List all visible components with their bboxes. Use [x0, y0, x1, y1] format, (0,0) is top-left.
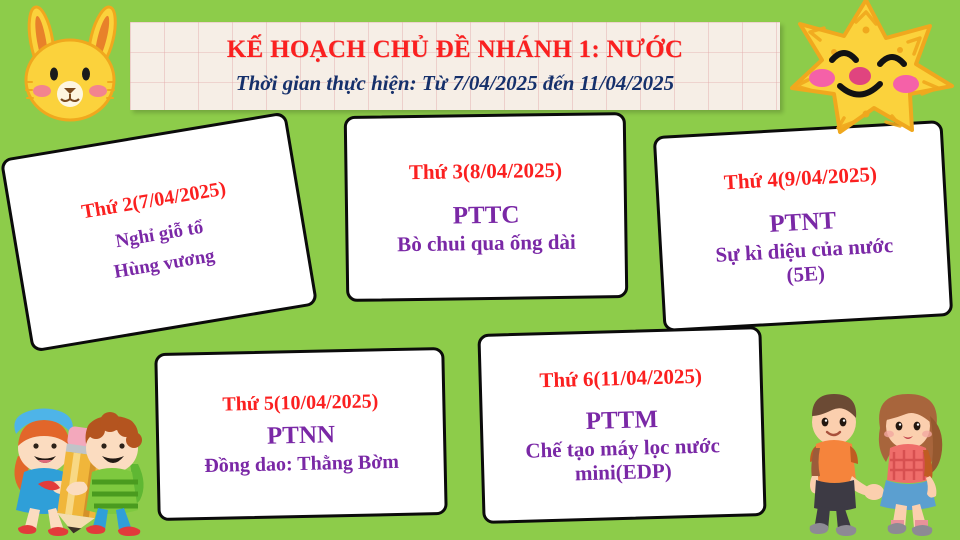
card-wednesday[interactable]: Thứ 4(9/04/2025) PTNT Sự kì diệu của nướ… — [653, 120, 953, 332]
card-tuesday-code: PTTC — [453, 201, 520, 232]
slide-canvas: KẾ HOẠCH CHỦ ĐỀ NHÁNH 1: NƯỚC Thời gian … — [0, 0, 960, 540]
rabbit-icon — [6, 2, 134, 126]
page-title: KẾ HOẠCH CHỦ ĐỀ NHÁNH 1: NƯỚC — [227, 36, 683, 64]
card-friday-desc2: mini(EDP) — [575, 459, 672, 486]
card-monday-line1: Nghỉ giỗ tổ — [114, 216, 205, 252]
card-wednesday-code: PTNT — [769, 206, 837, 240]
card-wednesday-desc2: (5E) — [786, 261, 826, 287]
card-friday[interactable]: Thứ 6(11/04/2025) PTTM Chế tạo máy lọc n… — [477, 326, 766, 524]
star-icon — [774, 0, 958, 136]
card-tuesday-date: Thứ 3(8/04/2025) — [409, 158, 563, 184]
kids-with-pencil-illustration — [0, 390, 160, 540]
card-thursday-code: PTNN — [267, 420, 336, 451]
card-friday-desc1: Chế tạo máy lọc nước — [525, 433, 720, 463]
card-thursday-desc: Đồng dao: Thằng Bờm — [204, 451, 399, 478]
card-thursday[interactable]: Thứ 5(10/04/2025) PTNN Đồng dao: Thằng B… — [154, 347, 447, 521]
card-thursday-date: Thứ 5(10/04/2025) — [222, 390, 378, 416]
card-wednesday-date: Thứ 4(9/04/2025) — [723, 162, 877, 195]
header-banner: KẾ HOẠCH CHỦ ĐỀ NHÁNH 1: NƯỚC Thời gian … — [130, 22, 780, 110]
kids-holding-hands-illustration — [790, 380, 958, 540]
card-tuesday-desc: Bò chui qua ống dài — [397, 230, 576, 257]
card-friday-code: PTTM — [585, 405, 658, 437]
card-monday-date: Thứ 2(7/04/2025) — [80, 177, 228, 224]
card-friday-date: Thứ 6(11/04/2025) — [539, 364, 702, 393]
page-subtitle: Thời gian thực hiện: Từ 7/04/2025 đến 11… — [236, 71, 674, 96]
card-tuesday[interactable]: Thứ 3(8/04/2025) PTTC Bò chui qua ống dà… — [344, 112, 629, 302]
card-monday[interactable]: Thứ 2(7/04/2025) Nghỉ giỗ tổ Hùng vương — [0, 111, 318, 352]
